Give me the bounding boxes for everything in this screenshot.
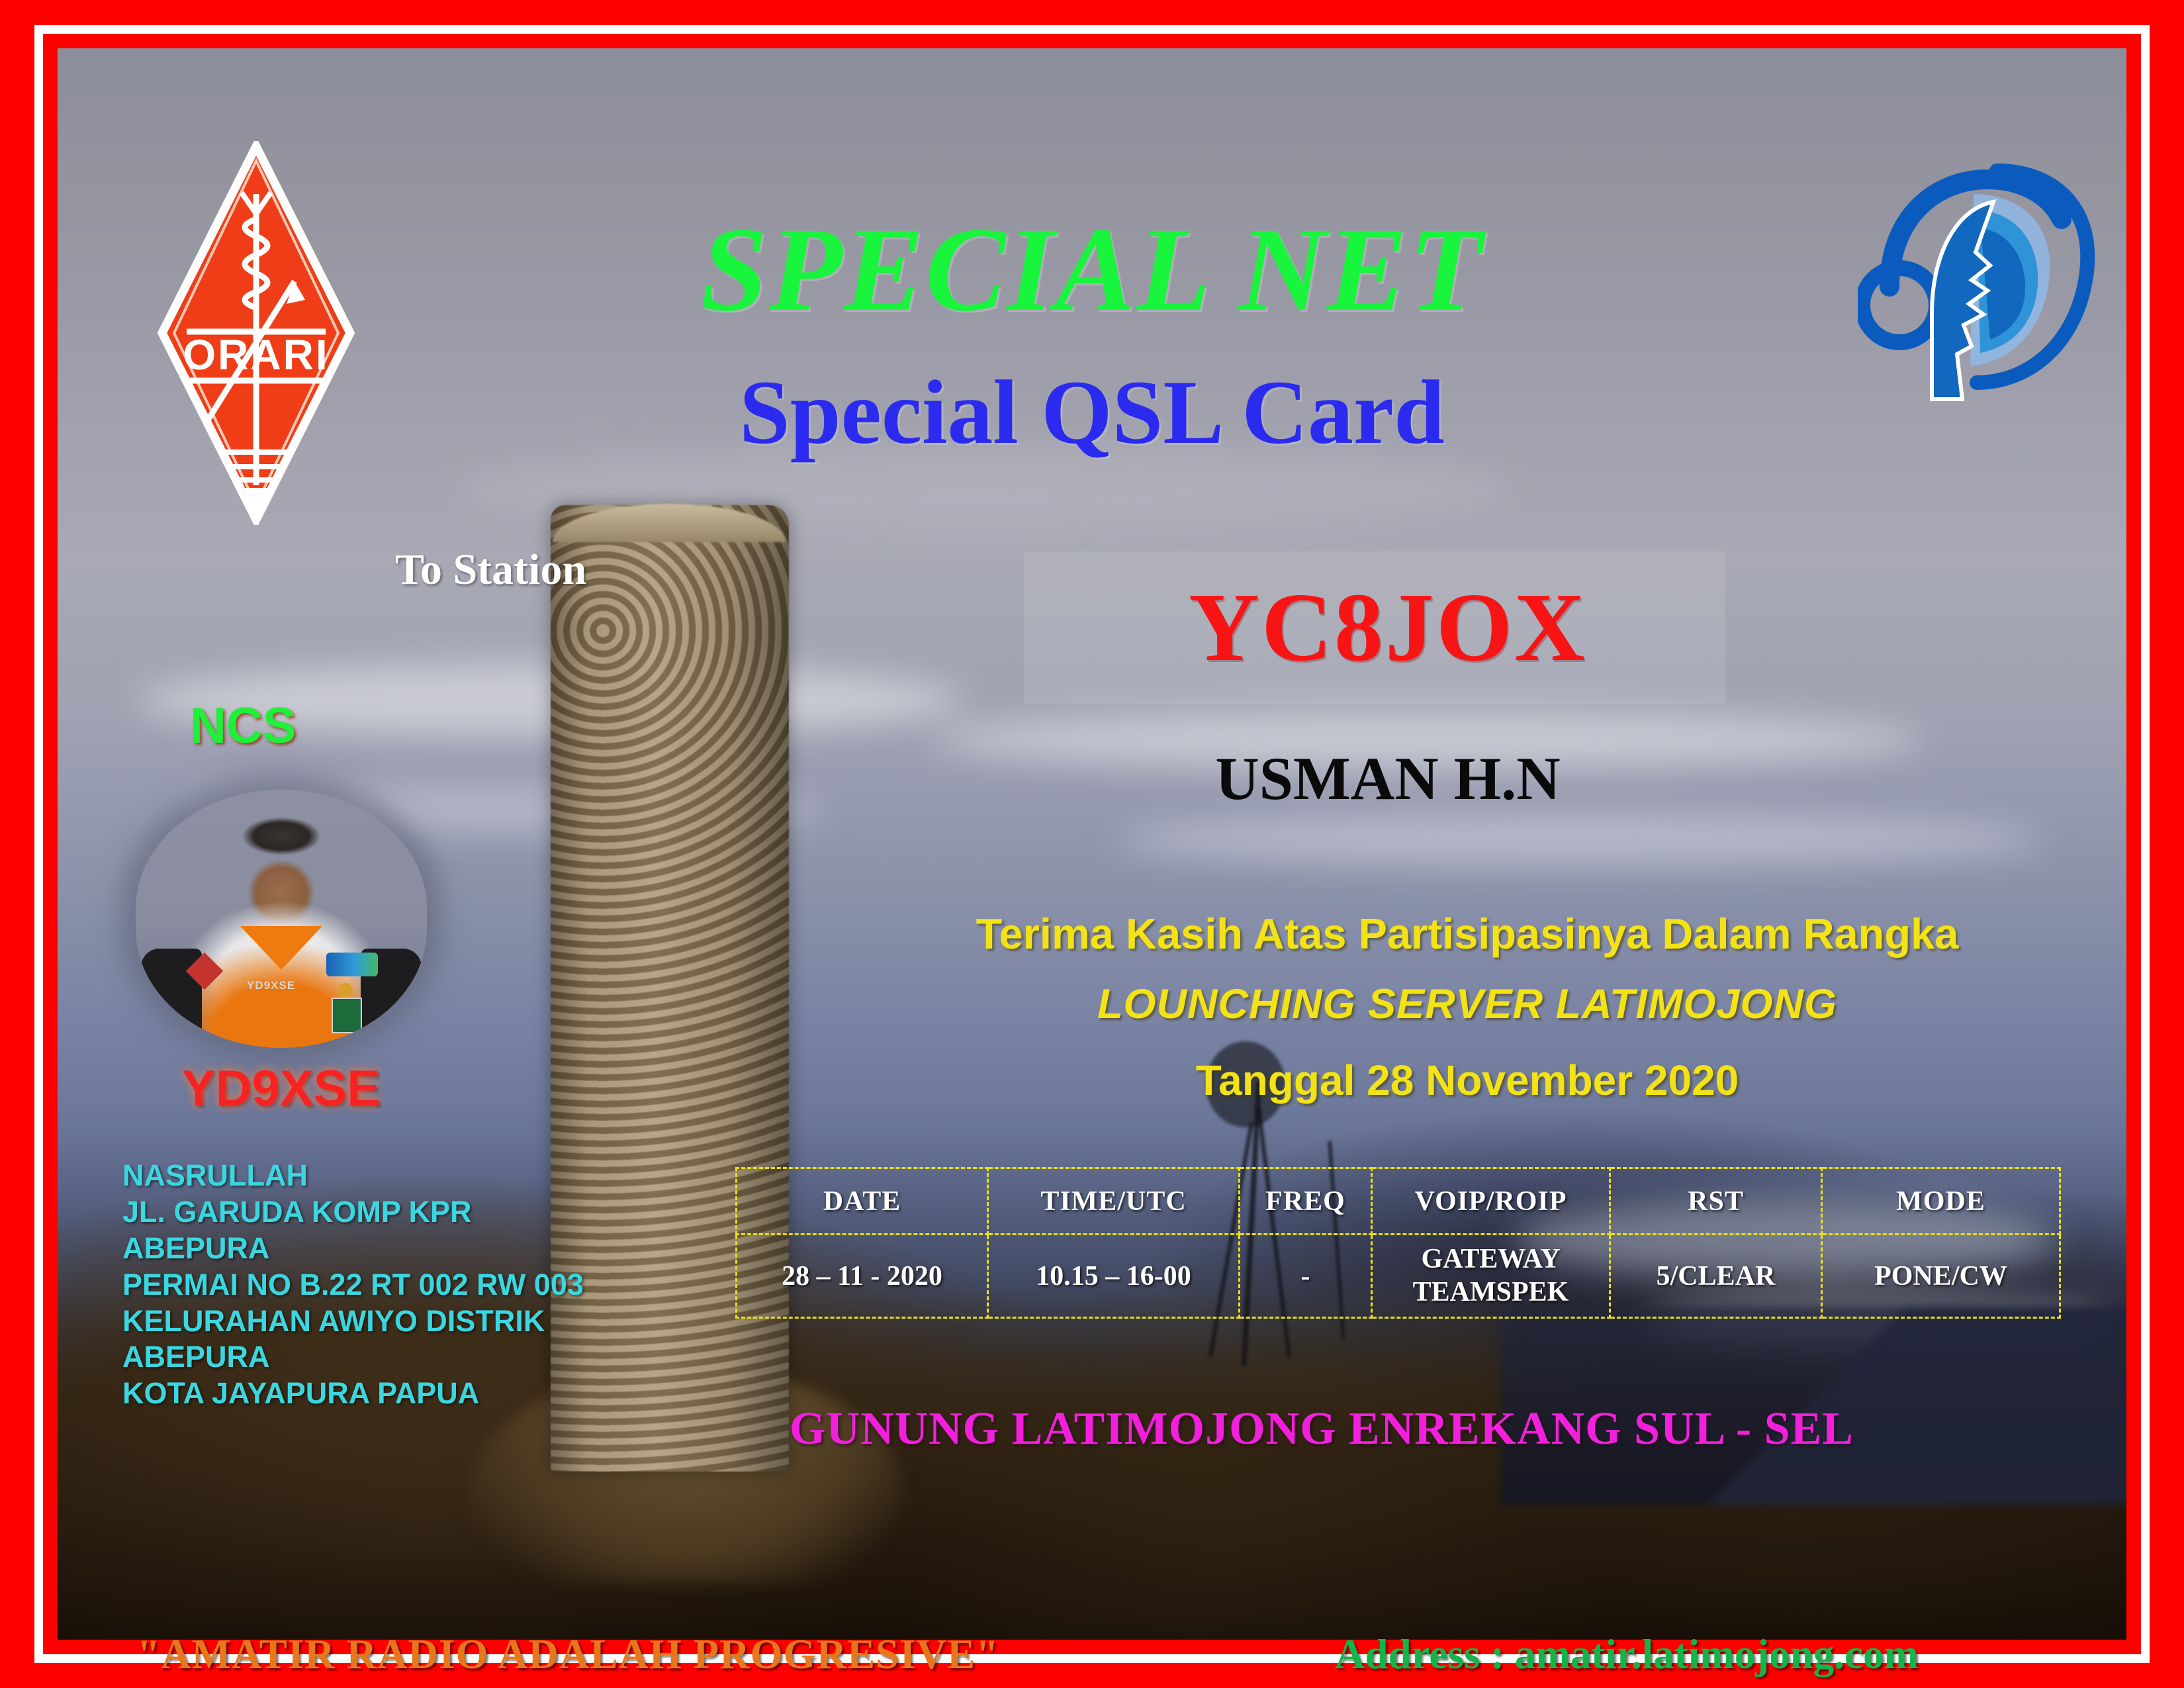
page-title-special-net: SPECIAL NET (58, 201, 2126, 339)
location-line: GUNUNG LATIMOJONG ENREKANG SUL - SEL (693, 1403, 1950, 1456)
address-line: NASRULLAH (122, 1158, 584, 1194)
web-address-text: Address : amatir.latimojong.com (1335, 1630, 1919, 1679)
id-card-icon (332, 998, 362, 1033)
cell-voip-roip: GATEWAY TEAMSPEK (1372, 1235, 1610, 1318)
to-station-label: To Station (395, 545, 586, 595)
address-line: JL. GARUDA KOMP KPR (122, 1194, 584, 1231)
page-subtitle-qsl-card: Special QSL Card (58, 359, 2126, 465)
cell-voip-line2: TEAMSPEK (1373, 1276, 1609, 1309)
column-header-mode: MODE (1822, 1168, 2060, 1235)
address-line: KELURAHAN AWIYO DISTRIK (122, 1303, 584, 1340)
qsl-card-frame: ORARI (0, 0, 2184, 1688)
table-row: 28 – 11 - 2020 10.15 – 16-00 - GATEWAY T… (737, 1235, 2060, 1318)
event-line: LOUNCHING SERVER LATIMOJONG (805, 980, 2129, 1028)
address-line: KOTA JAYAPURA PAPUA (122, 1376, 584, 1412)
stone-pillar (551, 505, 789, 1472)
station-callsign: YC8JOX (997, 571, 1778, 684)
cell-time: 10.15 – 16-00 (988, 1235, 1240, 1318)
column-header-rst: RST (1610, 1168, 1822, 1235)
address-line: ABEPURA (122, 1339, 584, 1376)
cloud-streak (1116, 813, 2043, 866)
cell-voip-line1: GATEWAY (1373, 1243, 1609, 1276)
column-header-voip-roip: VOIP/ROIP (1372, 1168, 1610, 1235)
card-inner-red-border: ORARI (43, 34, 2141, 1654)
cell-mode: PONE/CW (1822, 1235, 2060, 1318)
thanks-line: Terima Kasih Atas Partisipasinya Dalam R… (805, 909, 2129, 959)
event-date-line: Tanggal 28 November 2020 (805, 1056, 2129, 1105)
uniform-collar (240, 926, 322, 970)
card-white-border: ORARI (34, 25, 2150, 1663)
cell-rst: 5/CLEAR (1610, 1235, 1822, 1318)
postal-address-block: NASRULLAH JL. GARUDA KOMP KPR ABEPURA PE… (122, 1158, 584, 1412)
table-header-row: DATE TIME/UTC FREQ VOIP/ROIP RST MODE (737, 1168, 2060, 1235)
column-header-freq: FREQ (1240, 1168, 1372, 1235)
id-card-clip-icon (338, 983, 353, 998)
ncs-callsign: YD9XSE (136, 1060, 427, 1117)
motto-text: "AMATIR RADIO ADALAH PROGRESIVE" (137, 1630, 999, 1679)
ncs-label: NCS (190, 697, 296, 755)
cell-freq: - (1240, 1235, 1372, 1318)
cell-date: 28 – 11 - 2020 (737, 1235, 988, 1318)
column-header-date: DATE (737, 1168, 988, 1235)
address-line: PERMAI NO B.22 RT 002 RW 003 (122, 1267, 584, 1303)
address-line: ABEPURA (122, 1231, 584, 1267)
ncs-operator-photo: YD9XSE (136, 790, 427, 1048)
qso-details-table: DATE TIME/UTC FREQ VOIP/ROIP RST MODE 28… (735, 1167, 2061, 1319)
operator-name: USMAN H.N (997, 743, 1778, 814)
column-header-time-utc: TIME/UTC (988, 1168, 1240, 1235)
uniform-org-logo-icon (326, 953, 378, 976)
uniform-callsign-embroidery: YD9XSE (247, 979, 295, 992)
